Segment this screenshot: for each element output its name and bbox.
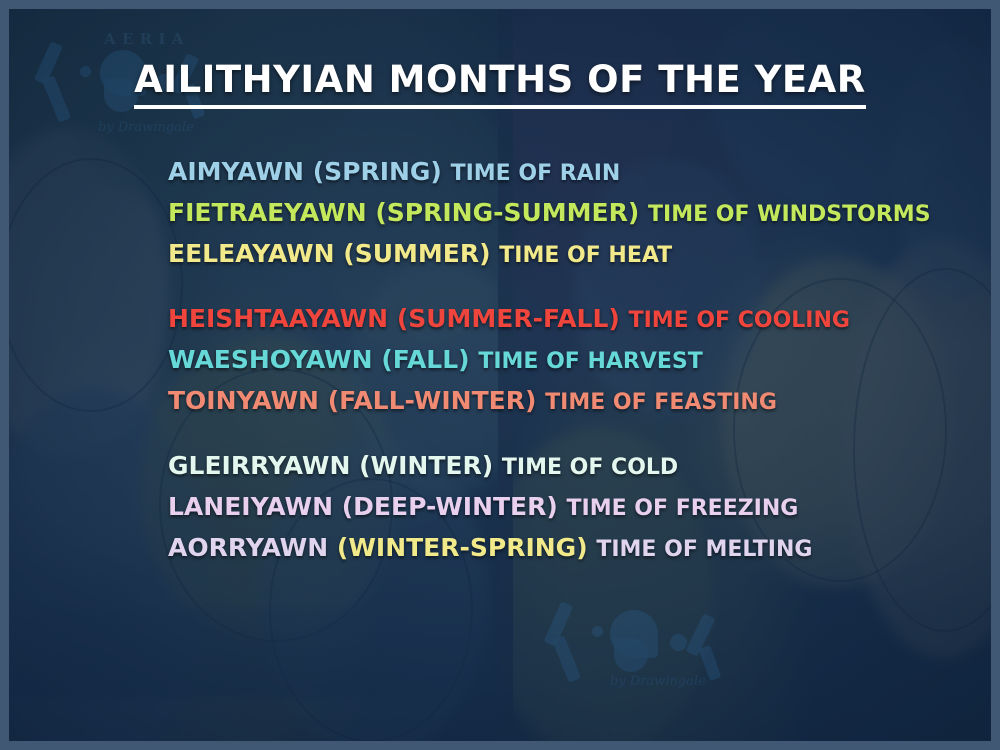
spring-summer-group: AIMYAWN (SPRING) TIME OF RAINFIETRAEYAWN… <box>168 152 960 275</box>
month-entry: AIMYAWN (SPRING) TIME OF RAIN <box>168 152 960 193</box>
month-season: (FALL) <box>381 345 469 374</box>
month-entry: FIETRAEYAWN (SPRING-SUMMER) TIME OF WIND… <box>168 193 960 234</box>
page-title-text: AILITHYIAN MONTHS OF THE YEAR <box>134 58 866 109</box>
month-entry: AORRYAWN (WINTER-SPRING) TIME OF MELTING <box>168 528 960 569</box>
month-description: TIME OF HEAT <box>499 243 672 268</box>
month-name: EELEAYAWN <box>168 239 335 268</box>
month-entry: WAESHOYAWN (FALL) TIME OF HARVEST <box>168 340 960 381</box>
month-season: (FALL-WINTER) <box>328 386 537 415</box>
month-entry: HEISHTAAYAWN (SUMMER-FALL) TIME OF COOLI… <box>168 299 960 340</box>
month-name: LANEIYAWN <box>168 492 333 521</box>
month-entry: EELEAYAWN (SUMMER) TIME OF HEAT <box>168 234 960 275</box>
page-title: AILITHYIAN MONTHS OF THE YEAR <box>0 58 1000 101</box>
month-entry: GLEIRRYAWN (WINTER) TIME OF COLD <box>168 446 960 487</box>
month-season: (WINTER-SPRING) <box>337 533 588 562</box>
month-season: (WINTER) <box>359 451 493 480</box>
month-name: TOINYAWN <box>168 386 319 415</box>
month-name: GLEIRRYAWN <box>168 451 350 480</box>
month-description: TIME OF HARVEST <box>478 349 702 374</box>
slide-canvas: AERIA by Drawingale by Drawingale AILITH… <box>0 0 1000 750</box>
month-description: TIME OF WINDSTORMS <box>648 202 931 227</box>
month-entry: LANEIYAWN (DEEP-WINTER) TIME OF FREEZING <box>168 487 960 528</box>
month-name: WAESHOYAWN <box>168 345 373 374</box>
month-name: AORRYAWN <box>168 533 328 562</box>
month-description: TIME OF MELTING <box>596 537 812 562</box>
month-description: TIME OF FREEZING <box>567 496 799 521</box>
month-description: TIME OF FEASTING <box>545 390 777 415</box>
month-season: (SPRING) <box>313 157 442 186</box>
slide-content: AILITHYIAN MONTHS OF THE YEAR AIMYAWN (S… <box>0 0 1000 750</box>
summer-fall-winter-group: HEISHTAAYAWN (SUMMER-FALL) TIME OF COOLI… <box>168 299 960 422</box>
month-name: FIETRAEYAWN <box>168 198 367 227</box>
month-season: (SUMMER-FALL) <box>397 304 620 333</box>
month-description: TIME OF COOLING <box>629 308 850 333</box>
month-entry: TOINYAWN (FALL-WINTER) TIME OF FEASTING <box>168 381 960 422</box>
month-description: TIME OF RAIN <box>451 161 621 186</box>
month-season: (SPRING-SUMMER) <box>375 198 639 227</box>
months-list: AIMYAWN (SPRING) TIME OF RAINFIETRAEYAWN… <box>168 152 960 569</box>
month-description: TIME OF COLD <box>502 455 678 480</box>
month-name: HEISHTAAYAWN <box>168 304 388 333</box>
month-season: (DEEP-WINTER) <box>342 492 558 521</box>
month-season: (SUMMER) <box>343 239 490 268</box>
month-name: AIMYAWN <box>168 157 304 186</box>
winter-spring-group: GLEIRRYAWN (WINTER) TIME OF COLDLANEIYAW… <box>168 446 960 569</box>
